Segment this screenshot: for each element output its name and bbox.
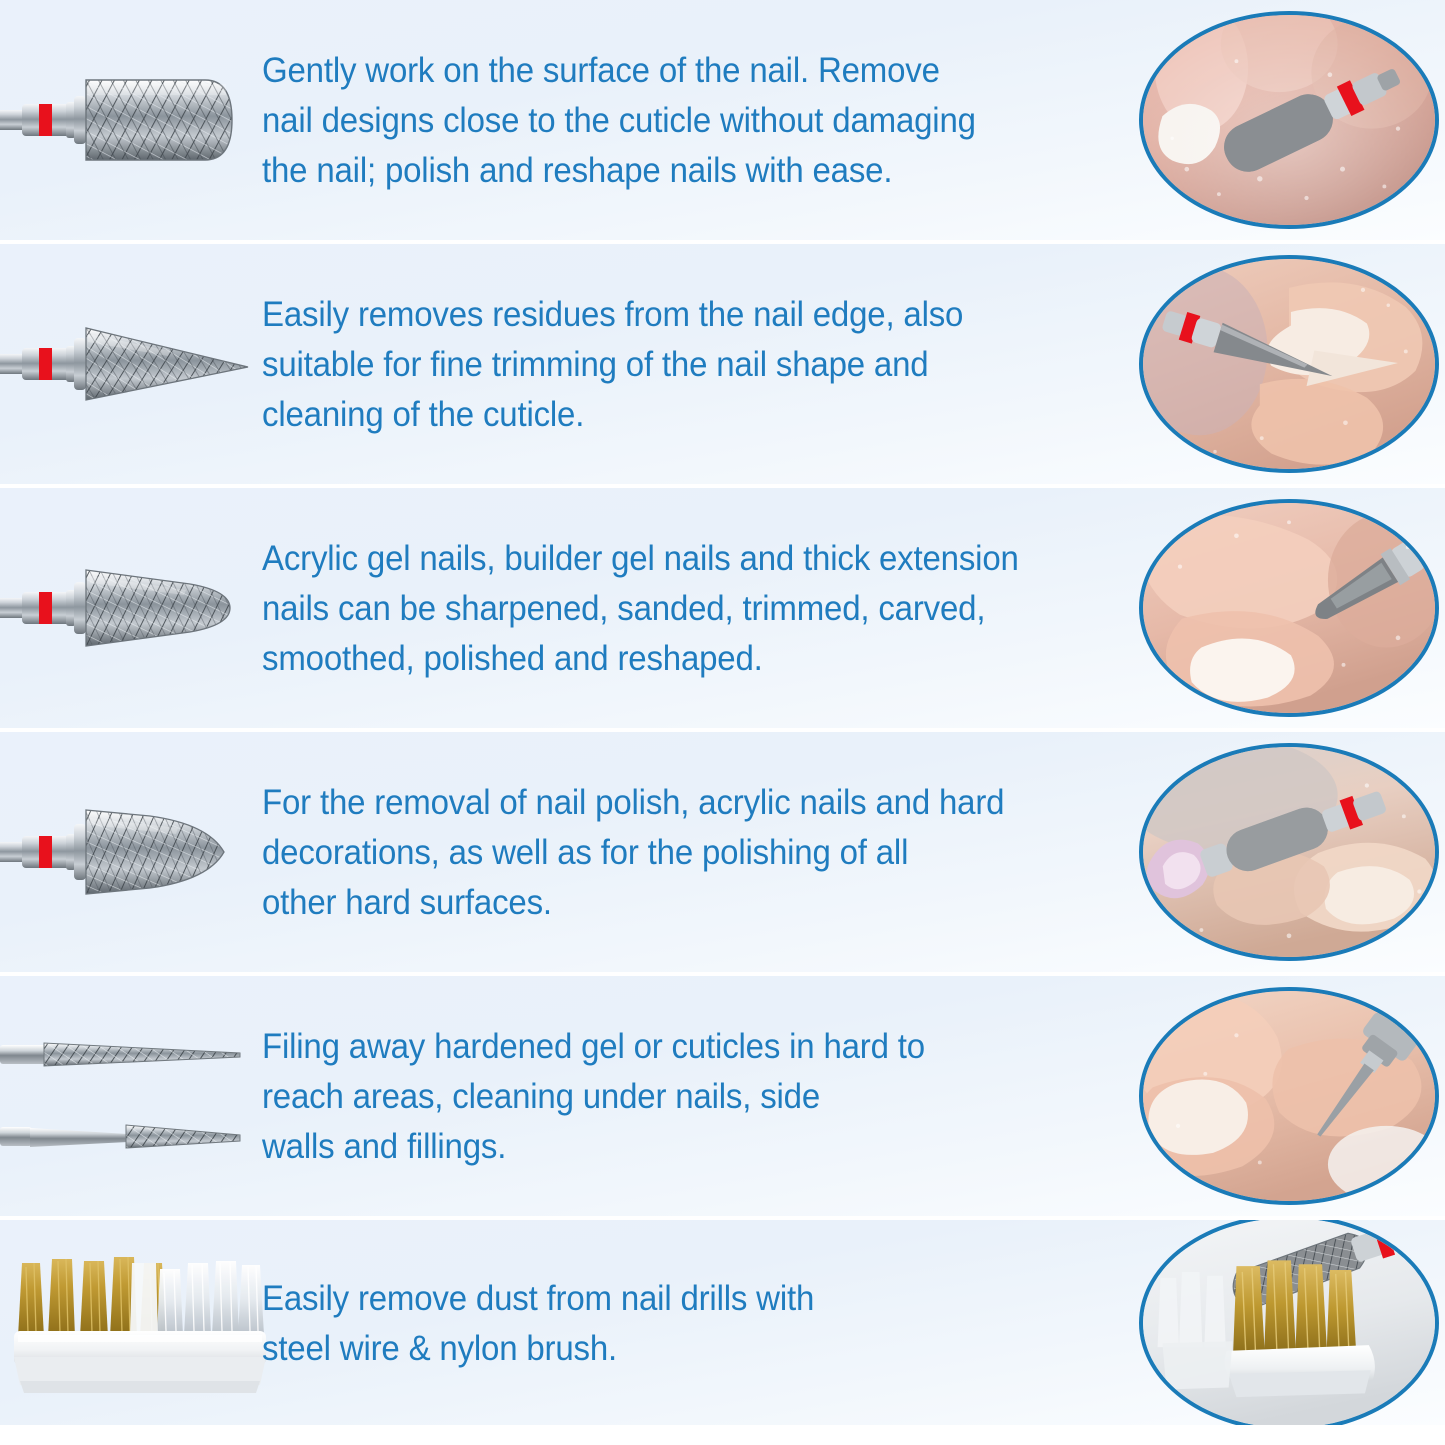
dual-cleaning-brush-icon bbox=[8, 1233, 276, 1413]
nail-drill-in-use-needle-photo bbox=[1139, 987, 1439, 1205]
feature-description: Filing away hardened gel or cuticles in … bbox=[262, 1021, 925, 1171]
cone-carbide-bit-icon bbox=[0, 304, 252, 424]
photo-caption: Cone bit trimming the edge of a long nai… bbox=[1139, 473, 1140, 474]
photo-caption: Tapered bit shaping an acrylic extension… bbox=[1139, 717, 1140, 718]
feature-photo-cell: Cone bit trimming the edge of a long nai… bbox=[1139, 255, 1439, 473]
feature-photo-cell: Carbide bit being cleaned on the brass w… bbox=[1139, 1220, 1439, 1425]
feature-text-cell: Easily removes residues from the nail ed… bbox=[262, 244, 1127, 484]
feature-row: Filing away hardened gel or cuticles in … bbox=[0, 976, 1445, 1216]
feature-row: Easily removes residues from the nail ed… bbox=[0, 244, 1445, 484]
product-image-cell bbox=[0, 1220, 272, 1425]
feature-photo-cell: Needle bit cleaning under the free edge … bbox=[1139, 987, 1439, 1205]
product-image-cell bbox=[0, 488, 258, 728]
feature-row: Gently work on the surface of the nail. … bbox=[0, 0, 1445, 240]
feature-photo-cell: Tapered bit shaping an acrylic extension… bbox=[1139, 499, 1439, 717]
nail-drill-in-use-tapered-photo bbox=[1139, 499, 1439, 717]
product-image-cell bbox=[0, 244, 258, 484]
needle-carbide-bits-icon bbox=[0, 1033, 252, 1077]
feature-text-cell: Acrylic gel nails, builder gel nails and… bbox=[262, 488, 1127, 728]
product-image-cell bbox=[0, 732, 258, 972]
feature-row: Easily remove dust from nail drills with… bbox=[0, 1220, 1445, 1425]
photo-caption: Flame bit removing polish next to a pink… bbox=[1139, 961, 1140, 962]
feature-text-cell: For the removal of nail polish, acrylic … bbox=[262, 732, 1127, 972]
feature-photo-cell: Flame bit removing polish next to a pink… bbox=[1139, 743, 1439, 961]
tapered-round-carbide-bit-icon bbox=[0, 548, 252, 668]
product-image-cell bbox=[0, 0, 258, 240]
feature-description: Acrylic gel nails, builder gel nails and… bbox=[262, 533, 1019, 683]
photo-caption: Needle bit cleaning under the free edge … bbox=[1139, 1205, 1140, 1206]
feature-text-cell: Filing away hardened gel or cuticles in … bbox=[262, 976, 1127, 1216]
needle-carbide-bits-icon bbox=[0, 1115, 252, 1159]
barrel-carbide-bit-icon bbox=[0, 60, 252, 180]
product-image-cell bbox=[0, 976, 258, 1216]
feature-row: For the removal of nail polish, acrylic … bbox=[0, 732, 1445, 972]
brush-cleaning-bit-photo bbox=[1139, 1220, 1439, 1425]
nail-drill-in-use-flame-photo bbox=[1139, 743, 1439, 961]
feature-text-cell: Easily remove dust from nail drills with… bbox=[262, 1220, 1127, 1425]
feature-text-cell: Gently work on the surface of the nail. … bbox=[262, 0, 1127, 240]
feature-description: Gently work on the surface of the nail. … bbox=[262, 45, 976, 195]
photo-caption: Barrel bit filing the nail surface with … bbox=[1139, 229, 1140, 230]
feature-description: Easily remove dust from nail drills with… bbox=[262, 1273, 814, 1373]
flame-carbide-bit-icon bbox=[0, 792, 252, 912]
infographic-page: Gently work on the surface of the nail. … bbox=[0, 0, 1445, 1445]
feature-description: For the removal of nail polish, acrylic … bbox=[262, 777, 1004, 927]
feature-photo-cell: Barrel bit filing the nail surface with … bbox=[1139, 11, 1439, 229]
feature-row: Acrylic gel nails, builder gel nails and… bbox=[0, 488, 1445, 728]
nail-drill-in-use-barrel-photo bbox=[1139, 11, 1439, 229]
nail-drill-in-use-cone-photo bbox=[1139, 255, 1439, 473]
feature-description: Easily removes residues from the nail ed… bbox=[262, 289, 963, 439]
